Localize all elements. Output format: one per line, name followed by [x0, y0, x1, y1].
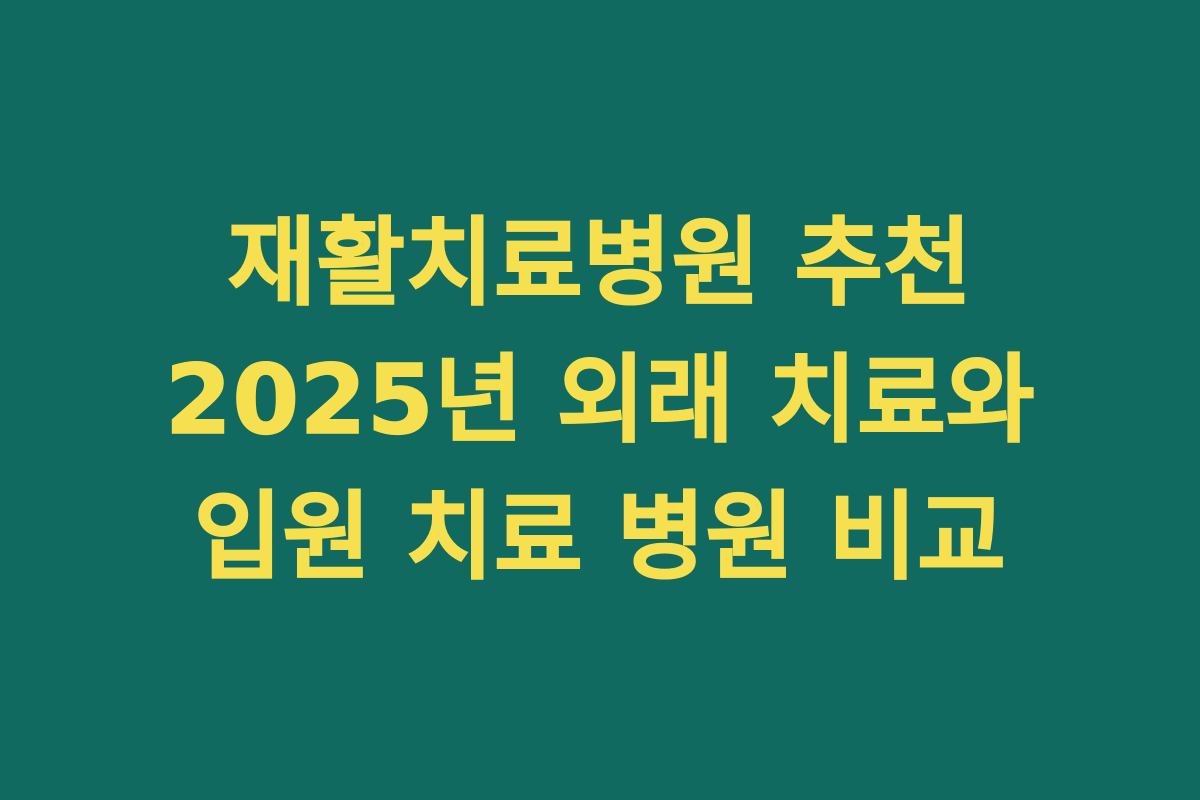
thumbnail-banner: 재활치료병원 추천 2025년 외래 치료와 입원 치료 병원 비교 [0, 0, 1200, 800]
page-title: 재활치료병원 추천 2025년 외래 치료와 입원 치료 병원 비교 [78, 195, 1122, 606]
headline-block: 재활치료병원 추천 2025년 외래 치료와 입원 치료 병원 비교 [70, 195, 1130, 606]
